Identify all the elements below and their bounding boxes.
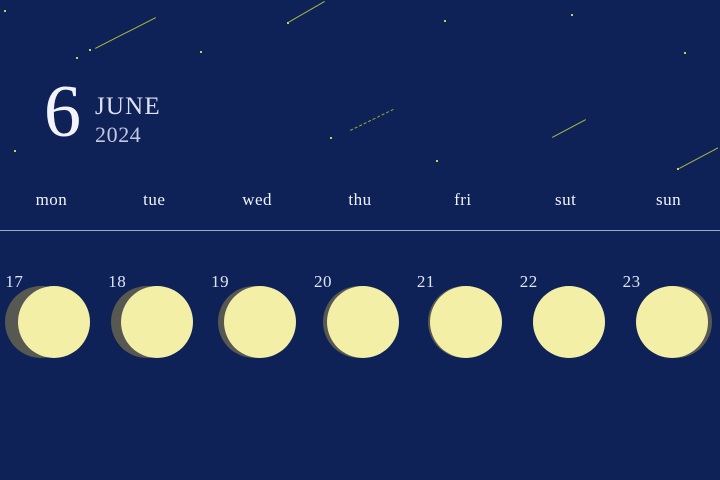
day-cell[interactable]: 21 xyxy=(411,272,514,382)
moon-lit-disc xyxy=(533,286,605,358)
moon-phase-calendar: 6 JUNE 2024 montuewedthufrisutsun 171819… xyxy=(0,0,720,480)
weekday-label-sun: sun xyxy=(617,190,720,210)
star-icon xyxy=(287,22,289,24)
star-icon xyxy=(4,10,6,12)
day-cell[interactable]: 23 xyxy=(617,272,720,382)
shooting-star-icon xyxy=(350,109,394,131)
month-name-label: JUNE xyxy=(95,94,161,120)
star-icon xyxy=(14,150,16,152)
starfield-background xyxy=(0,0,720,480)
weekday-header-row: montuewedthufrisutsun xyxy=(0,190,720,210)
day-moon-row: 17181920212223 xyxy=(0,272,720,382)
shooting-star-icon xyxy=(288,1,325,23)
month-year-block: JUNE 2024 xyxy=(95,78,161,148)
moon-lit-disc xyxy=(18,286,90,358)
header-divider xyxy=(0,230,720,231)
day-number: 21 xyxy=(417,272,435,292)
calendar-header: 6 JUNE 2024 xyxy=(44,78,161,148)
day-cell[interactable]: 19 xyxy=(206,272,309,382)
star-icon xyxy=(444,20,446,22)
moon-phase-icon xyxy=(430,286,502,358)
star-icon xyxy=(684,52,686,54)
moon-phase-icon xyxy=(327,286,399,358)
month-number: 6 xyxy=(44,78,81,146)
moon-phase-icon xyxy=(224,286,296,358)
shooting-star-icon xyxy=(95,17,156,49)
moon-lit-disc xyxy=(224,286,296,358)
weekday-label-thu: thu xyxy=(309,190,412,210)
day-number: 22 xyxy=(520,272,538,292)
moon-lit-disc xyxy=(327,286,399,358)
day-number: 19 xyxy=(211,272,229,292)
moon-phase-icon xyxy=(533,286,605,358)
shooting-star-icon xyxy=(679,147,718,169)
moon-phase-icon xyxy=(636,286,708,358)
day-cell[interactable]: 22 xyxy=(514,272,617,382)
star-icon xyxy=(436,160,438,162)
star-icon xyxy=(89,49,91,51)
weekday-label-tue: tue xyxy=(103,190,206,210)
star-icon xyxy=(330,137,332,139)
moon-phase-icon xyxy=(18,286,90,358)
year-label: 2024 xyxy=(95,122,161,147)
shooting-star-icon xyxy=(552,119,586,138)
day-cell[interactable]: 20 xyxy=(309,272,412,382)
weekday-label-fri: fri xyxy=(411,190,514,210)
moon-lit-disc xyxy=(430,286,502,358)
moon-phase-icon xyxy=(121,286,193,358)
day-number: 23 xyxy=(623,272,641,292)
day-number: 20 xyxy=(314,272,332,292)
weekday-label-sut: sut xyxy=(514,190,617,210)
moon-lit-disc xyxy=(636,286,708,358)
day-cell[interactable]: 18 xyxy=(103,272,206,382)
star-icon xyxy=(677,168,679,170)
star-icon xyxy=(200,51,202,53)
day-cell[interactable]: 17 xyxy=(0,272,103,382)
day-number: 18 xyxy=(108,272,126,292)
star-icon xyxy=(76,57,78,59)
weekday-label-mon: mon xyxy=(0,190,103,210)
star-icon xyxy=(571,14,573,16)
day-number: 17 xyxy=(5,272,23,292)
weekday-label-wed: wed xyxy=(206,190,309,210)
moon-lit-disc xyxy=(121,286,193,358)
